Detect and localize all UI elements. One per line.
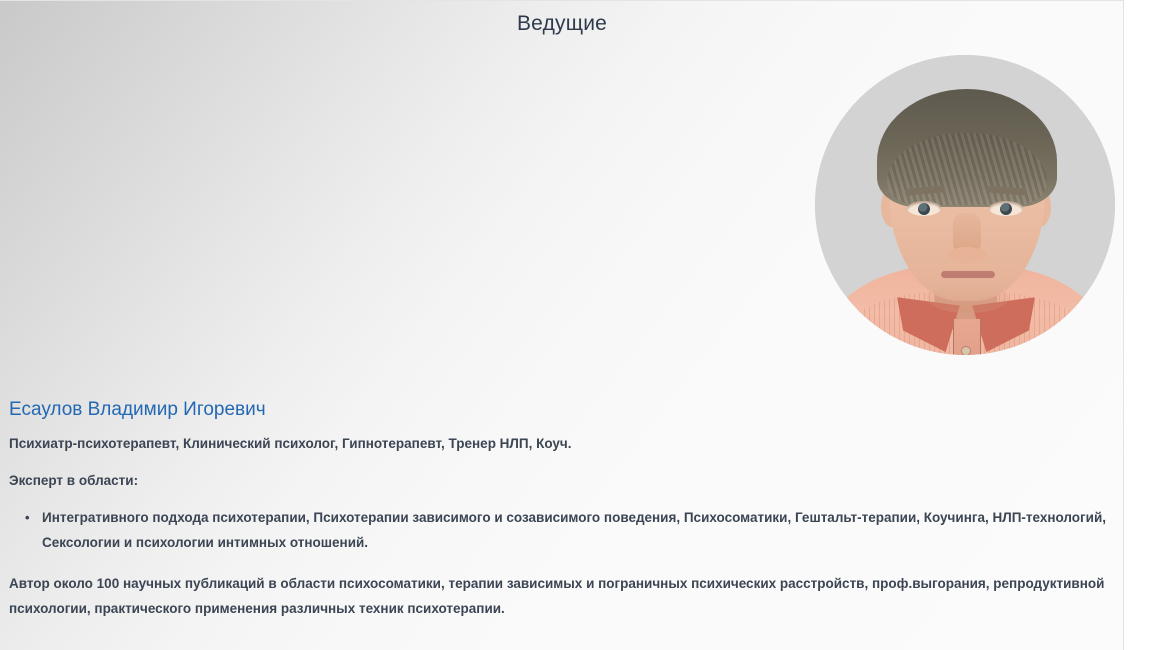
mouth <box>941 271 995 278</box>
speaker-section: Ведущие <box>0 0 1124 650</box>
list-item: Интегративного подхода психотерапии, Пси… <box>42 505 1117 555</box>
eye-left <box>907 201 941 216</box>
speaker-bio: Есаулов Владимир Игоревич Психиатр-психо… <box>9 397 1117 621</box>
speaker-photo <box>815 55 1115 355</box>
expertise-heading: Эксперт в области: <box>9 470 1117 491</box>
nose-tip <box>948 247 986 263</box>
eye-right <box>989 201 1023 216</box>
speaker-name-link[interactable]: Есаулов Владимир Игоревич <box>9 397 1117 423</box>
shirt-button <box>962 347 970 355</box>
iris-left <box>918 203 930 215</box>
expertise-list: Интегративного подхода психотерапии, Пси… <box>9 505 1117 555</box>
speaker-avatar <box>815 55 1115 355</box>
speaker-credentials: Психиатр-психотерапевт, Клинический псих… <box>9 433 1117 454</box>
speaker-summary: Автор около 100 научных публикаций в обл… <box>9 571 1116 621</box>
iris-right <box>1000 203 1012 215</box>
page-title: Ведущие <box>0 9 1124 39</box>
chin-shading <box>927 283 1009 313</box>
